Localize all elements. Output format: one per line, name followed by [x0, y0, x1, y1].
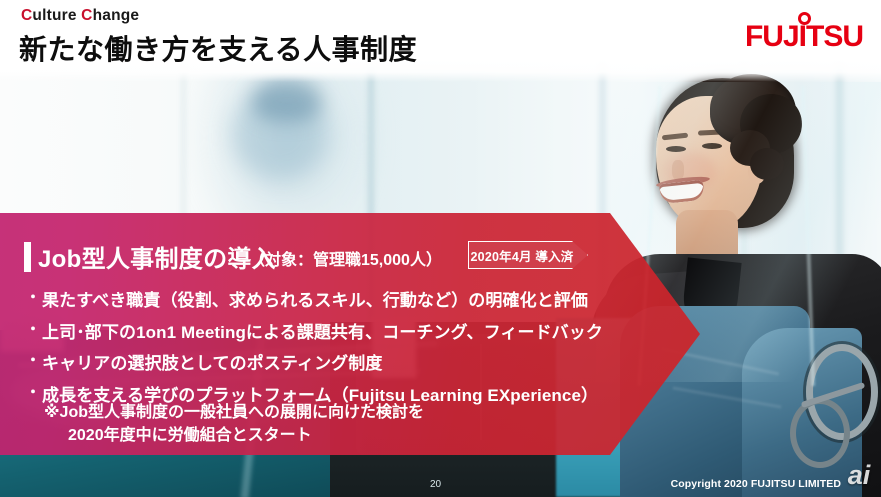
fujitsu-logo: FUJITSU — [745, 22, 863, 52]
eyebrow-part: hange — [93, 7, 140, 24]
list-item: ・ 上司･部下の1on1 Meetingによる課題共有、コーチング、フィードバッ… — [24, 318, 644, 343]
hair-curl — [750, 148, 784, 180]
banner-heading-subtext: （対象：管理職15,000人） — [249, 246, 442, 270]
copyright-notice: Copyright 2020 FUJITSU LIMITED — [671, 478, 841, 490]
status-badge-label: 2020年4月 導入済 — [471, 246, 574, 265]
page-number: 20 — [430, 479, 441, 490]
list-item: ・ 果たすべき職責（役割、求められるスキル、行動など）の明確化と評価 — [24, 286, 644, 311]
bullet-list: ・ 果たすべき職責（役割、求められるスキル、行動など）の明確化と評価 ・ 上司･… — [24, 286, 644, 412]
eye — [702, 143, 722, 149]
bullet-marker-icon: ・ — [24, 286, 42, 307]
blurred-background-person-hair — [252, 78, 322, 122]
eyebrow-part: C — [21, 7, 32, 24]
list-item-label: 果たすべき職責（役割、求められるスキル、行動など）の明確化と評価 — [42, 286, 588, 311]
banner-heading: Job型人事制度の導入 — [38, 239, 276, 274]
list-item-label: キャリアの選択肢としてのポスティング制度 — [42, 349, 382, 374]
eyebrow-text: Culture Change — [21, 7, 139, 25]
fujitsu-logo-text: FUJITSU — [745, 22, 863, 52]
footnote-line-1: ※Job型人事制度の一般社員への展開に向けた検討を — [44, 404, 424, 421]
watermark-icon: ai — [841, 458, 877, 494]
footnote-line-2: 2020年度中に労働組合とスタート — [44, 424, 424, 447]
bullet-marker-icon: ・ — [24, 381, 42, 402]
footnote: ※Job型人事制度の一般社員への展開に向けた検討を 2020年度中に労働組合とス… — [44, 401, 424, 447]
eyebrow-part: ulture — [32, 7, 81, 24]
fujitsu-infinity-ring-icon — [798, 12, 811, 25]
list-item: ・ キャリアの選択肢としてのポスティング制度 — [24, 349, 644, 374]
banner-content: Job型人事制度の導入 （対象：管理職15,000人） 2020年4月 導入済 … — [0, 213, 700, 455]
bullet-marker-icon: ・ — [24, 318, 42, 339]
bullet-marker-icon: ・ — [24, 349, 42, 370]
slide: Job型人事制度の導入 （対象：管理職15,000人） 2020年4月 導入済 … — [0, 0, 881, 497]
heading-accent-bar — [24, 242, 31, 272]
eye — [666, 146, 686, 152]
page-title: 新たな働き方を支える人事制度 — [19, 28, 417, 68]
status-badge: 2020年4月 導入済 — [468, 241, 588, 269]
list-item-label: 上司･部下の1on1 Meetingによる課題共有、コーチング、フィードバック — [42, 318, 603, 343]
eyebrow-part: C — [81, 7, 92, 24]
